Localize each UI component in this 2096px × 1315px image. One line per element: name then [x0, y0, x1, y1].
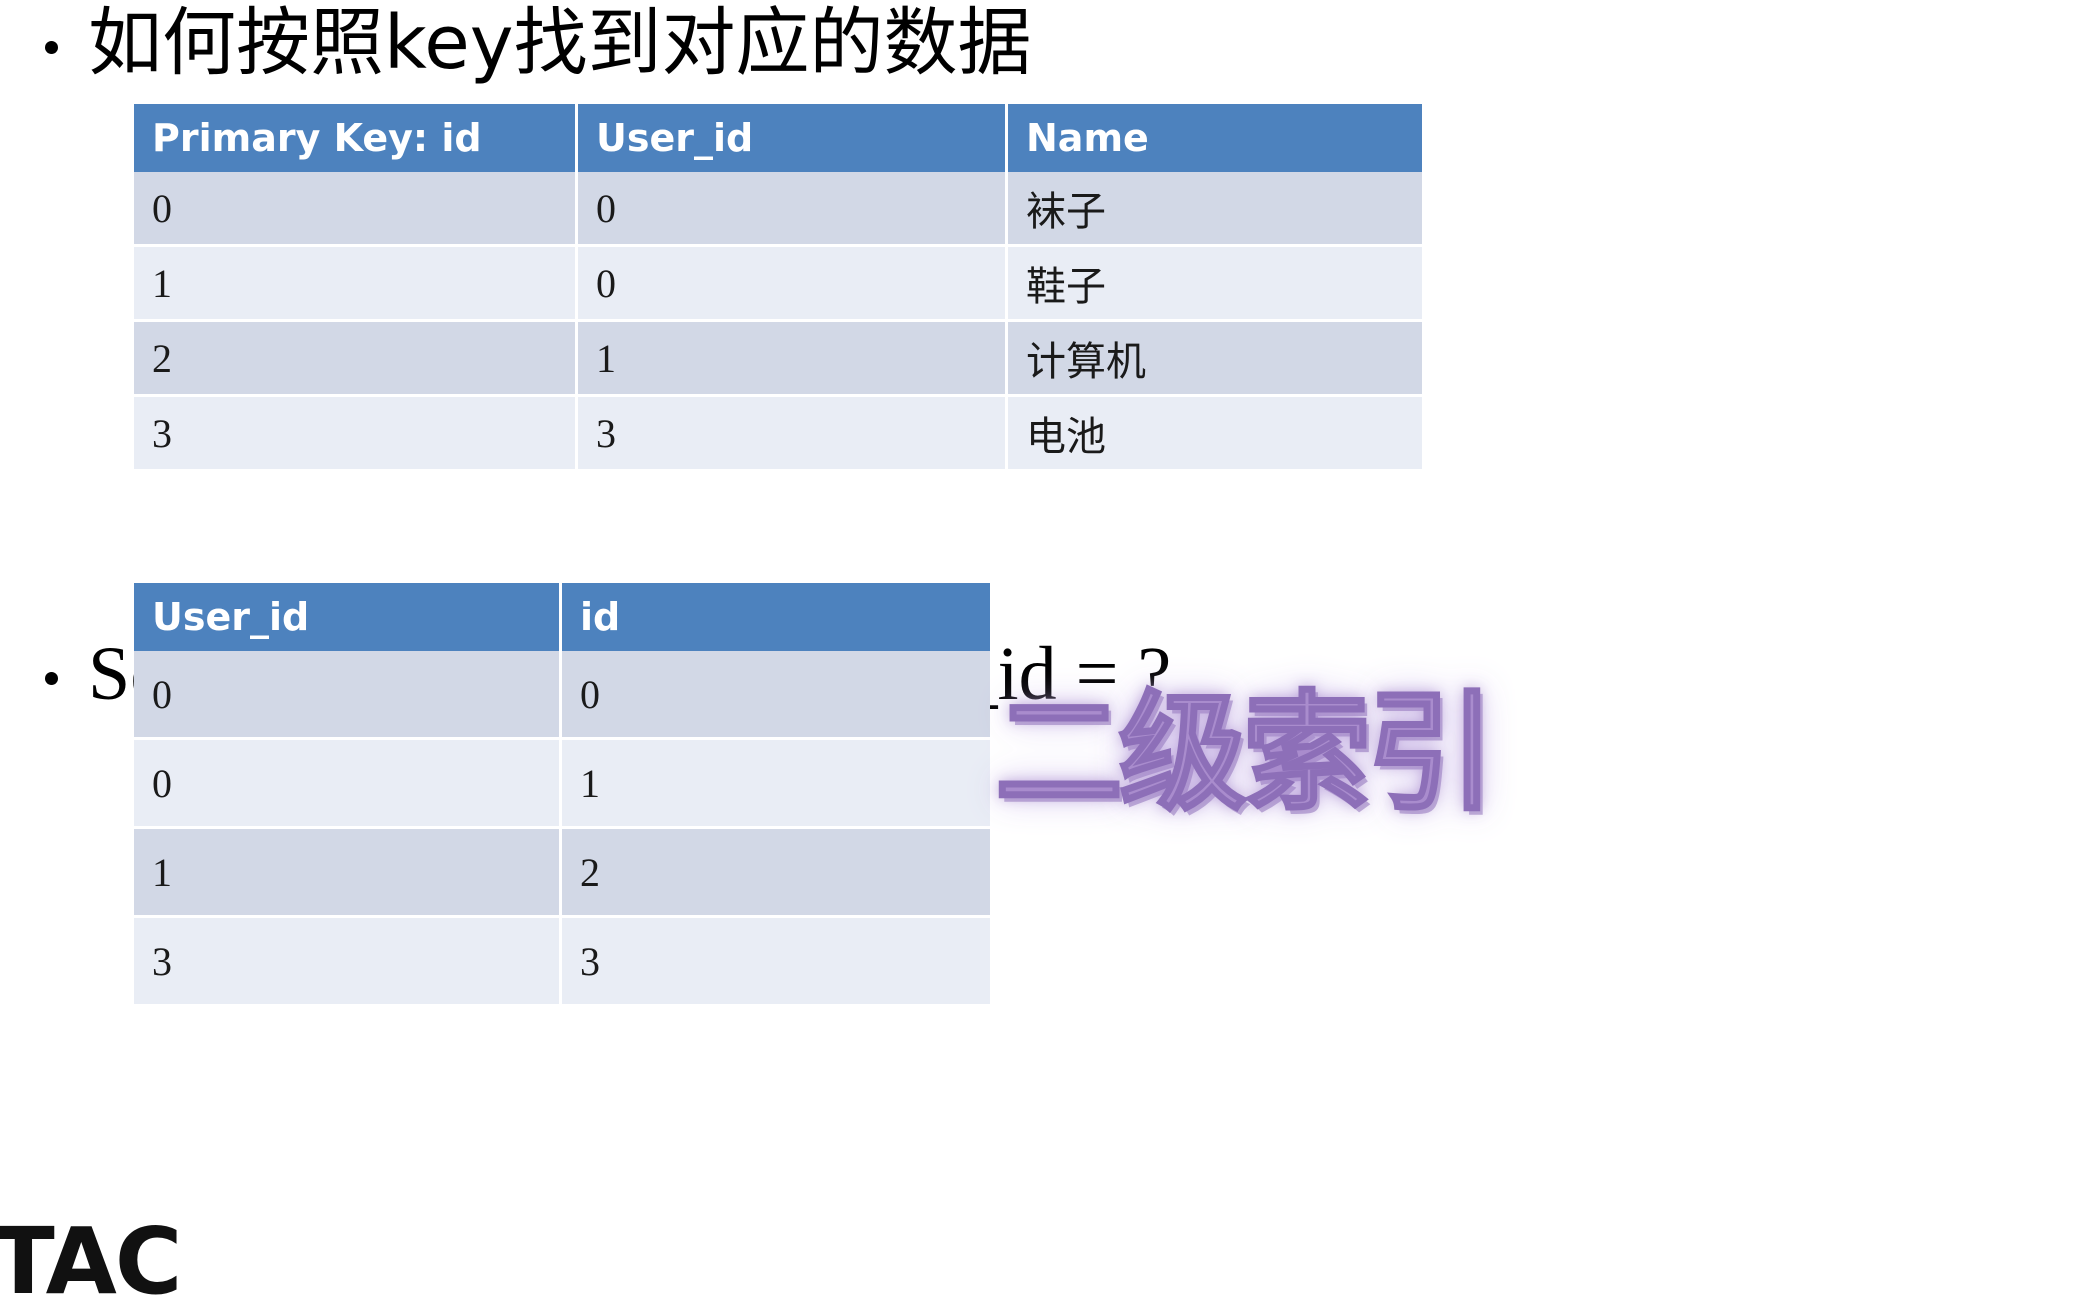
column-header-id: id	[562, 583, 990, 651]
cell-name: 鞋子	[1008, 246, 1422, 321]
column-header-name: Name	[1008, 104, 1422, 172]
cell-id: 1	[562, 739, 990, 828]
table-header-row: Primary Key: id User_id Name	[134, 104, 1422, 172]
cell-name: 计算机	[1008, 321, 1422, 396]
cell-user-id: 0	[578, 172, 1008, 246]
cell-user-id: 1	[578, 321, 1008, 396]
products-table: Primary Key: id User_id Name 0 0 袜子 1 0 …	[134, 104, 1422, 472]
cell-id: 3	[562, 917, 990, 1006]
cell-id: 2	[562, 828, 990, 917]
cell-user-id: 3	[578, 396, 1008, 471]
cell-user-id: 3	[134, 917, 562, 1006]
table-row: 3 3 电池	[134, 396, 1422, 471]
secondary-index-table: User_id id 0 0 0 1 1 2 3 3	[134, 583, 990, 1007]
table-row: 3 3	[134, 917, 990, 1006]
table-row: 0 0	[134, 651, 990, 739]
bullet-item-1: 如何按照key找到对应的数据	[45, 6, 1032, 80]
table-row: 2 1 计算机	[134, 321, 1422, 396]
cell-primary-key: 3	[134, 396, 578, 471]
cell-user-id: 0	[578, 246, 1008, 321]
table-row: 0 1	[134, 739, 990, 828]
column-header-primary-key: Primary Key: id	[134, 104, 578, 172]
table-header-row: User_id id	[134, 583, 990, 651]
cell-name: 电池	[1008, 396, 1422, 471]
wordart-secondary-index: 二级索引	[995, 690, 1491, 818]
cell-user-id: 0	[134, 651, 562, 739]
cell-primary-key: 0	[134, 172, 578, 246]
cell-user-id: 0	[134, 739, 562, 828]
cell-user-id: 1	[134, 828, 562, 917]
cell-primary-key: 2	[134, 321, 578, 396]
table-row: 0 0 袜子	[134, 172, 1422, 246]
column-header-user-id: User_id	[134, 583, 562, 651]
column-header-user-id: User_id	[578, 104, 1008, 172]
clipped-overflow-text: TAC	[0, 1216, 180, 1308]
bullet-marker-icon	[45, 41, 58, 54]
table-row: 1 2	[134, 828, 990, 917]
table-row: 1 0 鞋子	[134, 246, 1422, 321]
bullet-item-1-label: 如何按照key找到对应的数据	[88, 6, 1032, 80]
bullet-marker-icon	[45, 672, 58, 685]
cell-primary-key: 1	[134, 246, 578, 321]
cell-name: 袜子	[1008, 172, 1422, 246]
cell-id: 0	[562, 651, 990, 739]
